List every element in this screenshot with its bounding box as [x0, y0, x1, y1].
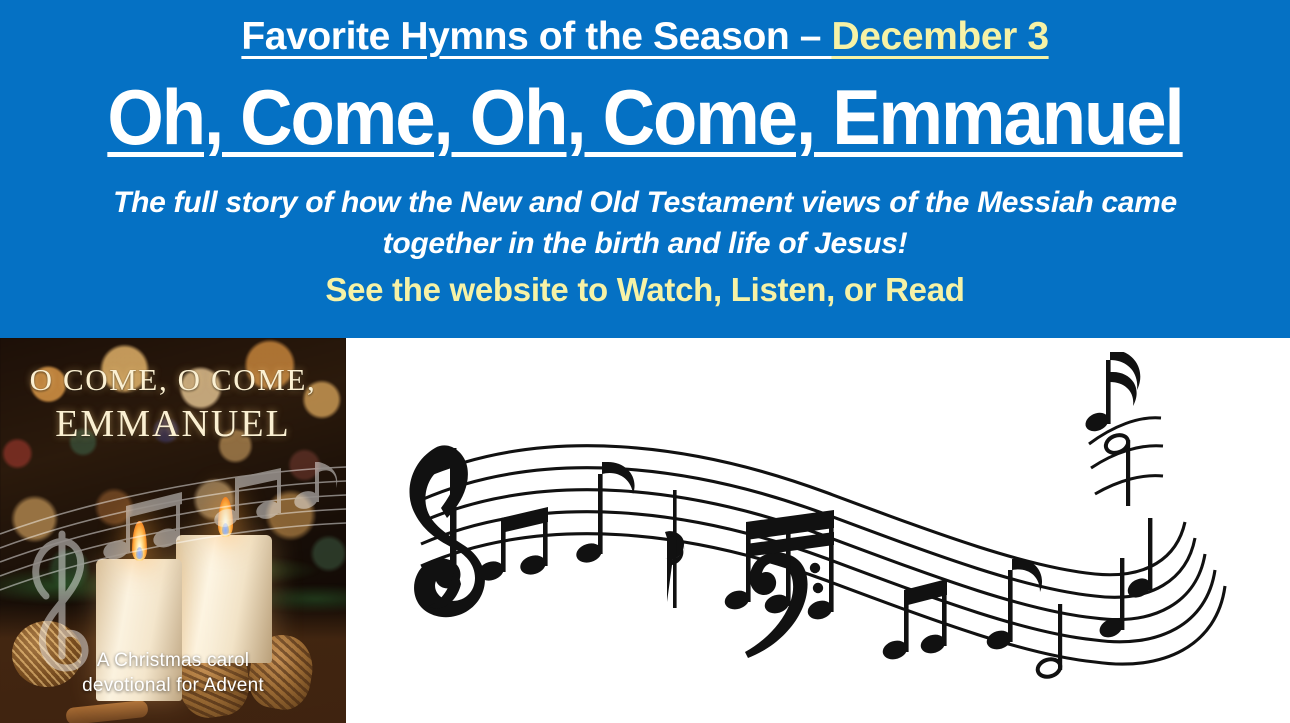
header-band: Favorite Hymns of the Season – December … [0, 0, 1290, 338]
album-title: O COME, O COME, EMMANUEL [0, 360, 346, 448]
album-cover-image: O COME, O COME, EMMANUEL A Christmas car… [0, 338, 346, 723]
slide-canvas: Favorite Hymns of the Season – December … [0, 0, 1290, 723]
series-label: Favorite Hymns of the Season – [241, 15, 831, 58]
call-to-action-text: See the website to Watch, Listen, or Rea… [0, 271, 1290, 309]
series-date: December 3 [831, 15, 1048, 58]
album-caption-line2: devotional for Advent [82, 675, 264, 696]
treble-clef [409, 445, 484, 617]
album-title-line1: O COME, O COME, [30, 362, 317, 397]
series-kicker: Favorite Hymns of the Season – December … [0, 17, 1290, 56]
note-stem [1126, 440, 1130, 506]
candle-back [176, 535, 272, 663]
note-group [1096, 518, 1153, 641]
note-stem [1058, 604, 1062, 670]
album-caption: A Christmas carol devotional for Advent [0, 648, 346, 699]
album-title-line2: EMMANUEL [55, 403, 291, 445]
eighth-rest [665, 490, 685, 608]
page-title: Oh, Come, Oh, Come, Emmanuel [45, 78, 1245, 156]
album-caption-line1: A Christmas carol [97, 650, 249, 671]
tagline-text: The full story of how the New and Old Te… [60, 182, 1230, 264]
music-staff-illustration [395, 352, 1275, 682]
